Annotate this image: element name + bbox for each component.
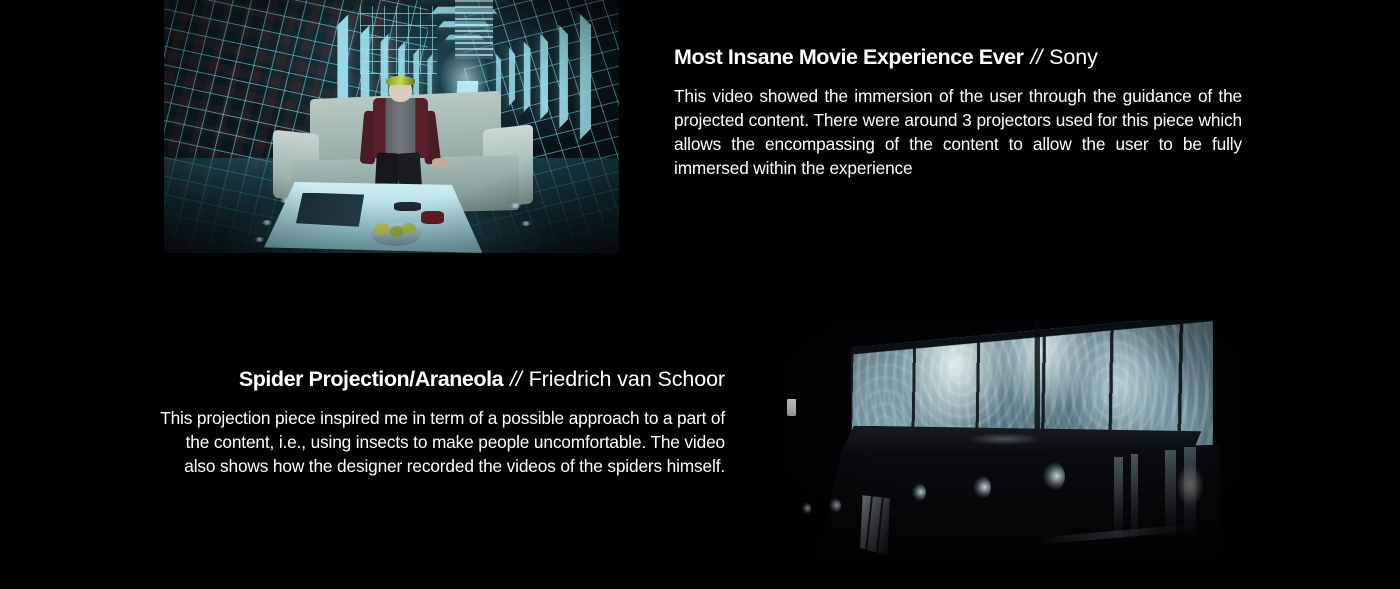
night-building-image: [780, 320, 1238, 560]
image-vignette: [780, 320, 1238, 560]
entry-body: This video showed the immersion of the u…: [674, 84, 1242, 180]
entry-title-separator: //: [509, 367, 523, 391]
entry-title: Most Insane Movie Experience Ever // Son…: [674, 44, 1242, 70]
image-vignette: [164, 0, 619, 253]
entry-body: This projection piece inspired me in ter…: [157, 406, 725, 478]
entry-text-block: Most Insane Movie Experience Ever // Son…: [674, 44, 1242, 180]
entry-title: Spider Projection/Araneola // Friedrich …: [157, 366, 725, 392]
projection-room-scene: [164, 0, 619, 253]
entry-title-main: Most Insane Movie Experience Ever: [674, 45, 1024, 69]
entry-title-author: Friedrich van Schoor: [529, 367, 725, 391]
entry-title-main: Spider Projection/Araneola: [239, 367, 503, 391]
entry-title-author: Sony: [1049, 45, 1098, 69]
projection-room-image: [164, 0, 619, 253]
entry-text-block: Spider Projection/Araneola // Friedrich …: [157, 366, 725, 478]
entry-title-separator: //: [1029, 45, 1043, 69]
night-building-scene: [780, 320, 1238, 560]
